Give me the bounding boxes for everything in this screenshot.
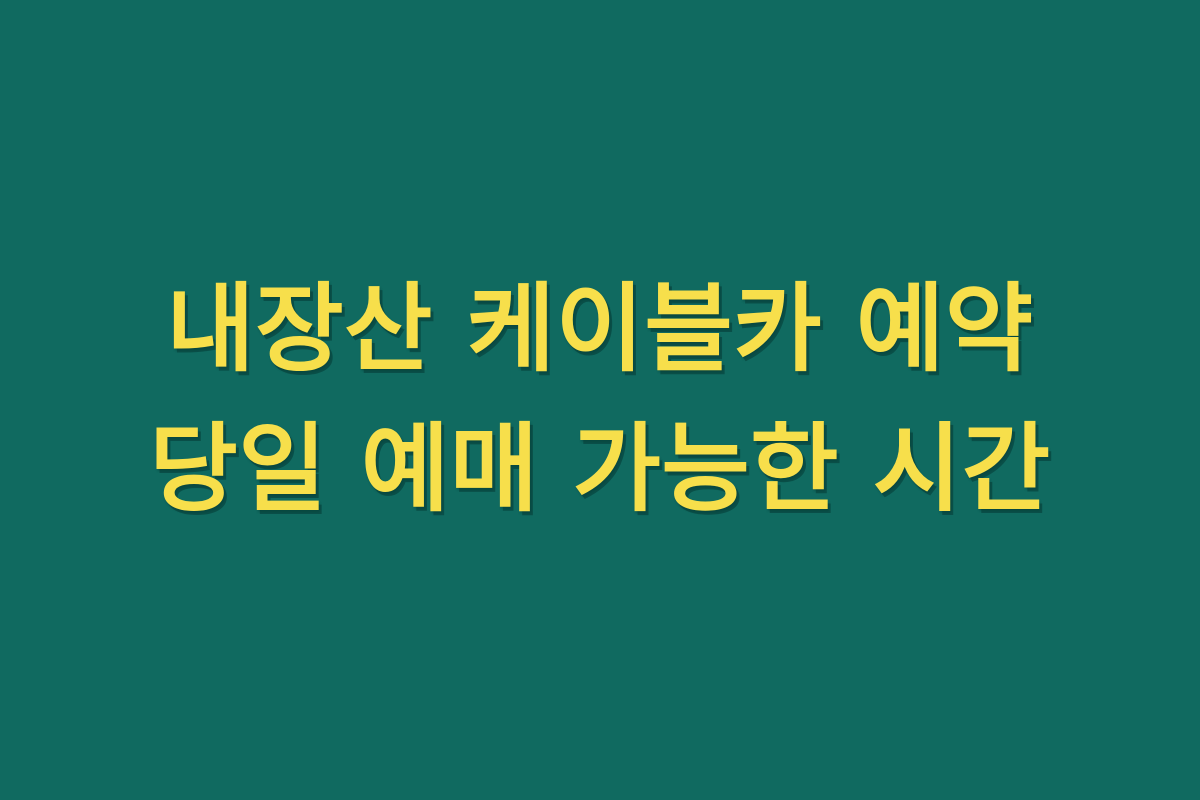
- headline-block: 내장산 케이블카 예약 당일 예매 가능한 시간: [149, 259, 1050, 539]
- headline-line-2: 당일 예매 가능한 시간: [149, 399, 1050, 539]
- headline-line-1: 내장산 케이블카 예약: [166, 259, 1033, 399]
- title-card: 내장산 케이블카 예약 당일 예매 가능한 시간: [0, 0, 1200, 800]
